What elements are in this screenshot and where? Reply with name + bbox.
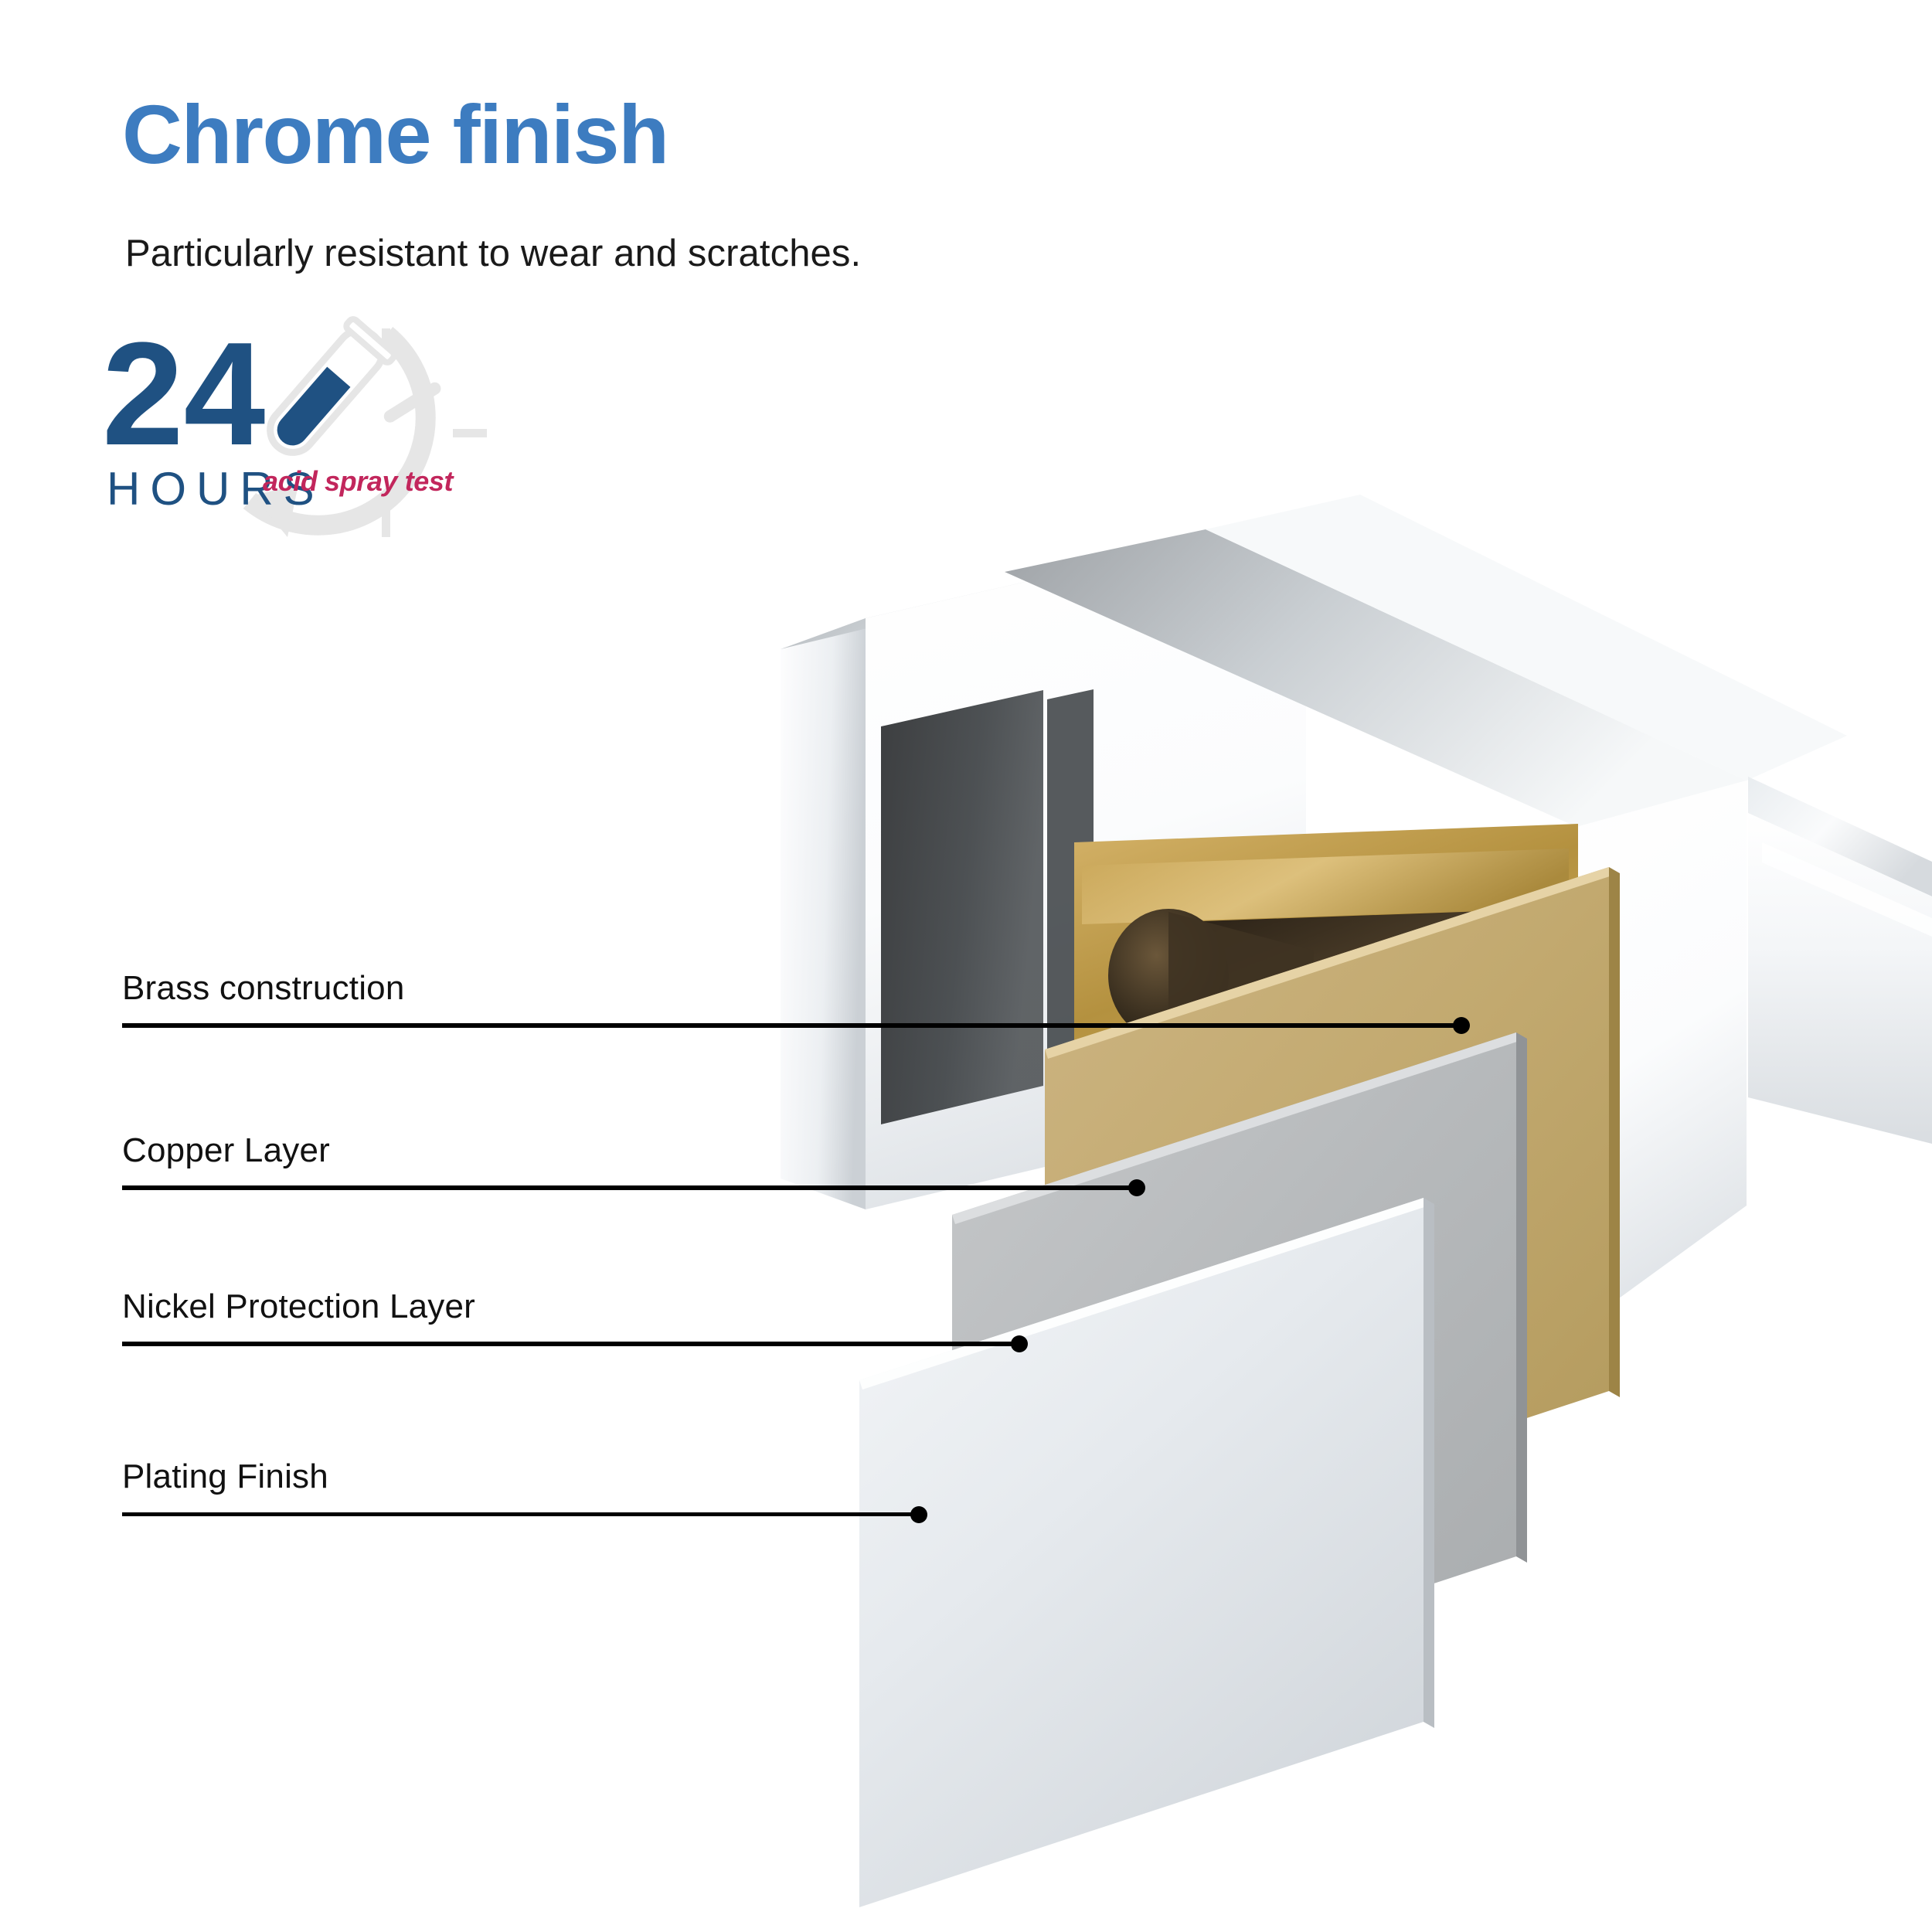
callout-brass-construction: Brass construction — [122, 935, 1467, 1028]
acid-spray-test-badge: 24 HOURS acid spray test — [108, 305, 526, 568]
callout-plating-finish: Plating Finish — [122, 1423, 934, 1516]
badge-test-label: acid spray test — [263, 465, 455, 497]
callout-label: Plating Finish — [122, 1458, 328, 1496]
callout-nickel-protection-layer: Nickel Protection Layer — [122, 1253, 1034, 1346]
towel-bar — [1748, 777, 1932, 1144]
leader-line — [122, 1512, 917, 1516]
brass-cross-section — [1074, 824, 1601, 1328]
test-tube-icon — [257, 318, 396, 466]
badge-number: 24 — [102, 312, 265, 476]
callout-label: Nickel Protection Layer — [122, 1287, 475, 1326]
page-title: Chrome finish — [122, 93, 668, 176]
leader-dot — [1011, 1335, 1028, 1352]
leader-dot — [910, 1506, 927, 1523]
arm-block — [1005, 495, 1847, 1329]
leader-line — [122, 1342, 1017, 1346]
infographic-page: Chrome finish Particularly resistant to … — [0, 0, 1932, 1932]
callout-copper-layer: Copper Layer — [122, 1097, 1150, 1190]
leader-line — [122, 1023, 1459, 1028]
leader-line — [122, 1185, 1134, 1190]
leader-dot — [1453, 1017, 1470, 1034]
callout-label: Copper Layer — [122, 1131, 330, 1170]
callout-label: Brass construction — [122, 969, 405, 1008]
leader-dot — [1128, 1179, 1145, 1196]
page-subtitle: Particularly resistant to wear and scrat… — [125, 232, 861, 275]
